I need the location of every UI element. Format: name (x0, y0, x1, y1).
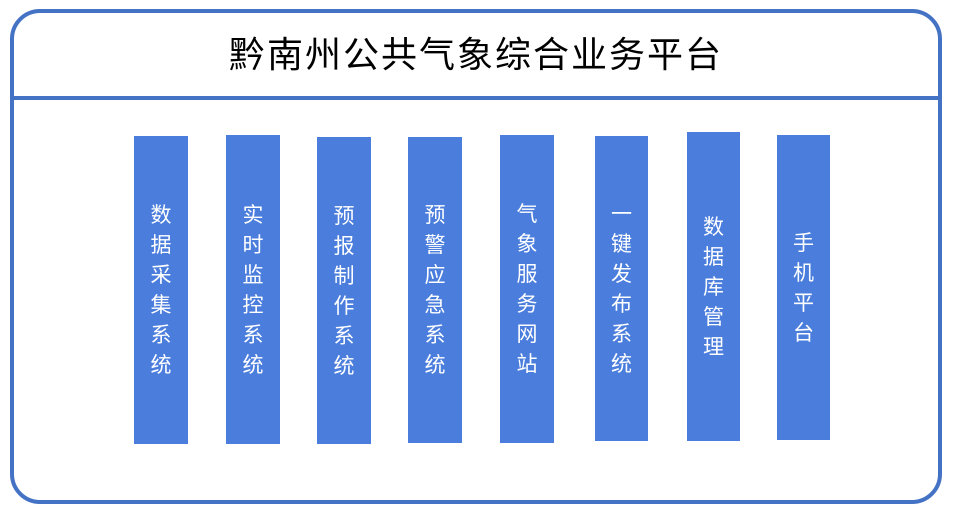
label-char: 系 (151, 320, 172, 350)
label-char: 统 (425, 350, 446, 380)
label-char: 监 (243, 260, 264, 290)
system-block-label: 数据库管理 (687, 132, 740, 441)
system-block[interactable]: 数据采集系统 (134, 136, 188, 444)
system-block[interactable]: 手机平台 (777, 135, 830, 440)
system-block-label: 实时监控系统 (226, 135, 280, 444)
label-char: 管 (703, 302, 724, 332)
label-char: 站 (517, 349, 538, 379)
diagram-canvas: 黔南州公共气象综合业务平台 数据采集系统实时监控系统预报制作系统预警应急系统气象… (0, 0, 953, 515)
label-char: 统 (243, 350, 264, 380)
system-block-label: 气象服务网站 (500, 135, 554, 443)
system-block-label: 数据采集系统 (134, 136, 188, 444)
label-char: 布 (611, 289, 632, 319)
label-char: 预 (334, 201, 355, 231)
label-char: 发 (611, 259, 632, 289)
label-char: 报 (334, 231, 355, 261)
label-char: 实 (243, 200, 264, 230)
label-char: 气 (517, 199, 538, 229)
label-char: 据 (703, 242, 724, 272)
blocks-container: 数据采集系统实时监控系统预报制作系统预警应急系统气象服务网站一键发布系统数据库管… (0, 0, 953, 515)
label-char: 数 (151, 200, 172, 230)
label-char: 集 (151, 290, 172, 320)
label-char: 系 (334, 321, 355, 351)
label-char: 应 (425, 260, 446, 290)
label-char: 作 (334, 291, 355, 321)
label-char: 据 (151, 230, 172, 260)
label-char: 台 (793, 318, 814, 348)
label-char: 键 (611, 229, 632, 259)
label-char: 网 (517, 319, 538, 349)
label-char: 控 (243, 290, 264, 320)
label-char: 急 (425, 290, 446, 320)
label-char: 服 (517, 259, 538, 289)
label-char: 制 (334, 261, 355, 291)
system-block-label: 预警应急系统 (408, 137, 462, 443)
system-block-label: 一键发布系统 (595, 136, 648, 441)
system-block-label: 手机平台 (777, 135, 830, 440)
label-char: 库 (703, 272, 724, 302)
label-char: 一 (611, 199, 632, 229)
label-char: 时 (243, 230, 264, 260)
label-char: 预 (425, 200, 446, 230)
label-char: 警 (425, 230, 446, 260)
label-char: 理 (703, 332, 724, 362)
system-block[interactable]: 一键发布系统 (595, 136, 648, 441)
system-block[interactable]: 气象服务网站 (500, 135, 554, 443)
label-char: 系 (611, 319, 632, 349)
system-block[interactable]: 实时监控系统 (226, 135, 280, 444)
label-char: 采 (151, 260, 172, 290)
label-char: 务 (517, 289, 538, 319)
system-block[interactable]: 预警应急系统 (408, 137, 462, 443)
label-char: 统 (151, 350, 172, 380)
label-char: 手 (793, 228, 814, 258)
label-char: 平 (793, 288, 814, 318)
label-char: 系 (425, 320, 446, 350)
system-block-label: 预报制作系统 (317, 137, 371, 444)
label-char: 象 (517, 229, 538, 259)
label-char: 机 (793, 258, 814, 288)
label-char: 数 (703, 212, 724, 242)
system-block[interactable]: 预报制作系统 (317, 137, 371, 444)
label-char: 系 (243, 320, 264, 350)
label-char: 统 (334, 351, 355, 381)
label-char: 统 (611, 349, 632, 379)
system-block[interactable]: 数据库管理 (687, 132, 740, 441)
